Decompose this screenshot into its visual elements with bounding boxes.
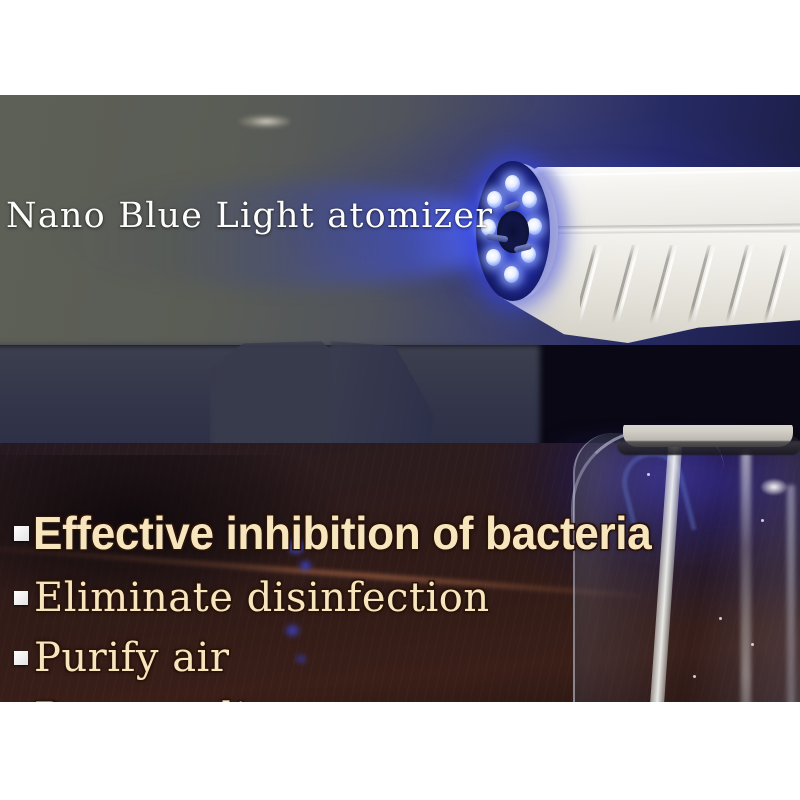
feature-label-2: Eliminate disinfection xyxy=(34,577,490,619)
bottle-specular-spark xyxy=(761,479,787,495)
bullet-square-icon xyxy=(14,651,28,665)
list-item: Effective inhibition of bacteria xyxy=(14,503,794,563)
wall-light-speck xyxy=(238,115,290,128)
bottle-bubble-1 xyxy=(647,473,650,476)
led-light-5 xyxy=(504,266,519,283)
led-light-1 xyxy=(505,175,520,192)
led-light-3 xyxy=(527,218,542,235)
nano-blue-light-spray-gun xyxy=(470,125,800,425)
feature-label-4: Prevent disease xyxy=(34,697,363,702)
list-item: Prevent disease xyxy=(14,687,794,702)
product-photo: Nano Blue Light atomizer Effective inhib… xyxy=(0,95,800,702)
feature-label-3: Purify air xyxy=(34,637,229,679)
gun-grip-ridges xyxy=(580,245,800,325)
bullet-square-icon xyxy=(14,526,29,541)
led-light-2 xyxy=(522,191,537,208)
led-light-6 xyxy=(486,249,501,266)
poster-canvas: Nano Blue Light atomizer Effective inhib… xyxy=(0,0,800,800)
list-item: Eliminate disinfection xyxy=(14,567,794,629)
feature-label-1: Effective inhibition of bacteria xyxy=(33,510,651,556)
feature-list: Effective inhibition of bacteria Elimina… xyxy=(14,503,794,702)
bottle-cap-rim xyxy=(617,441,800,455)
page-title: Nano Blue Light atomizer xyxy=(6,196,493,236)
list-item: Purify air xyxy=(14,627,794,689)
bullet-square-icon xyxy=(14,591,28,605)
